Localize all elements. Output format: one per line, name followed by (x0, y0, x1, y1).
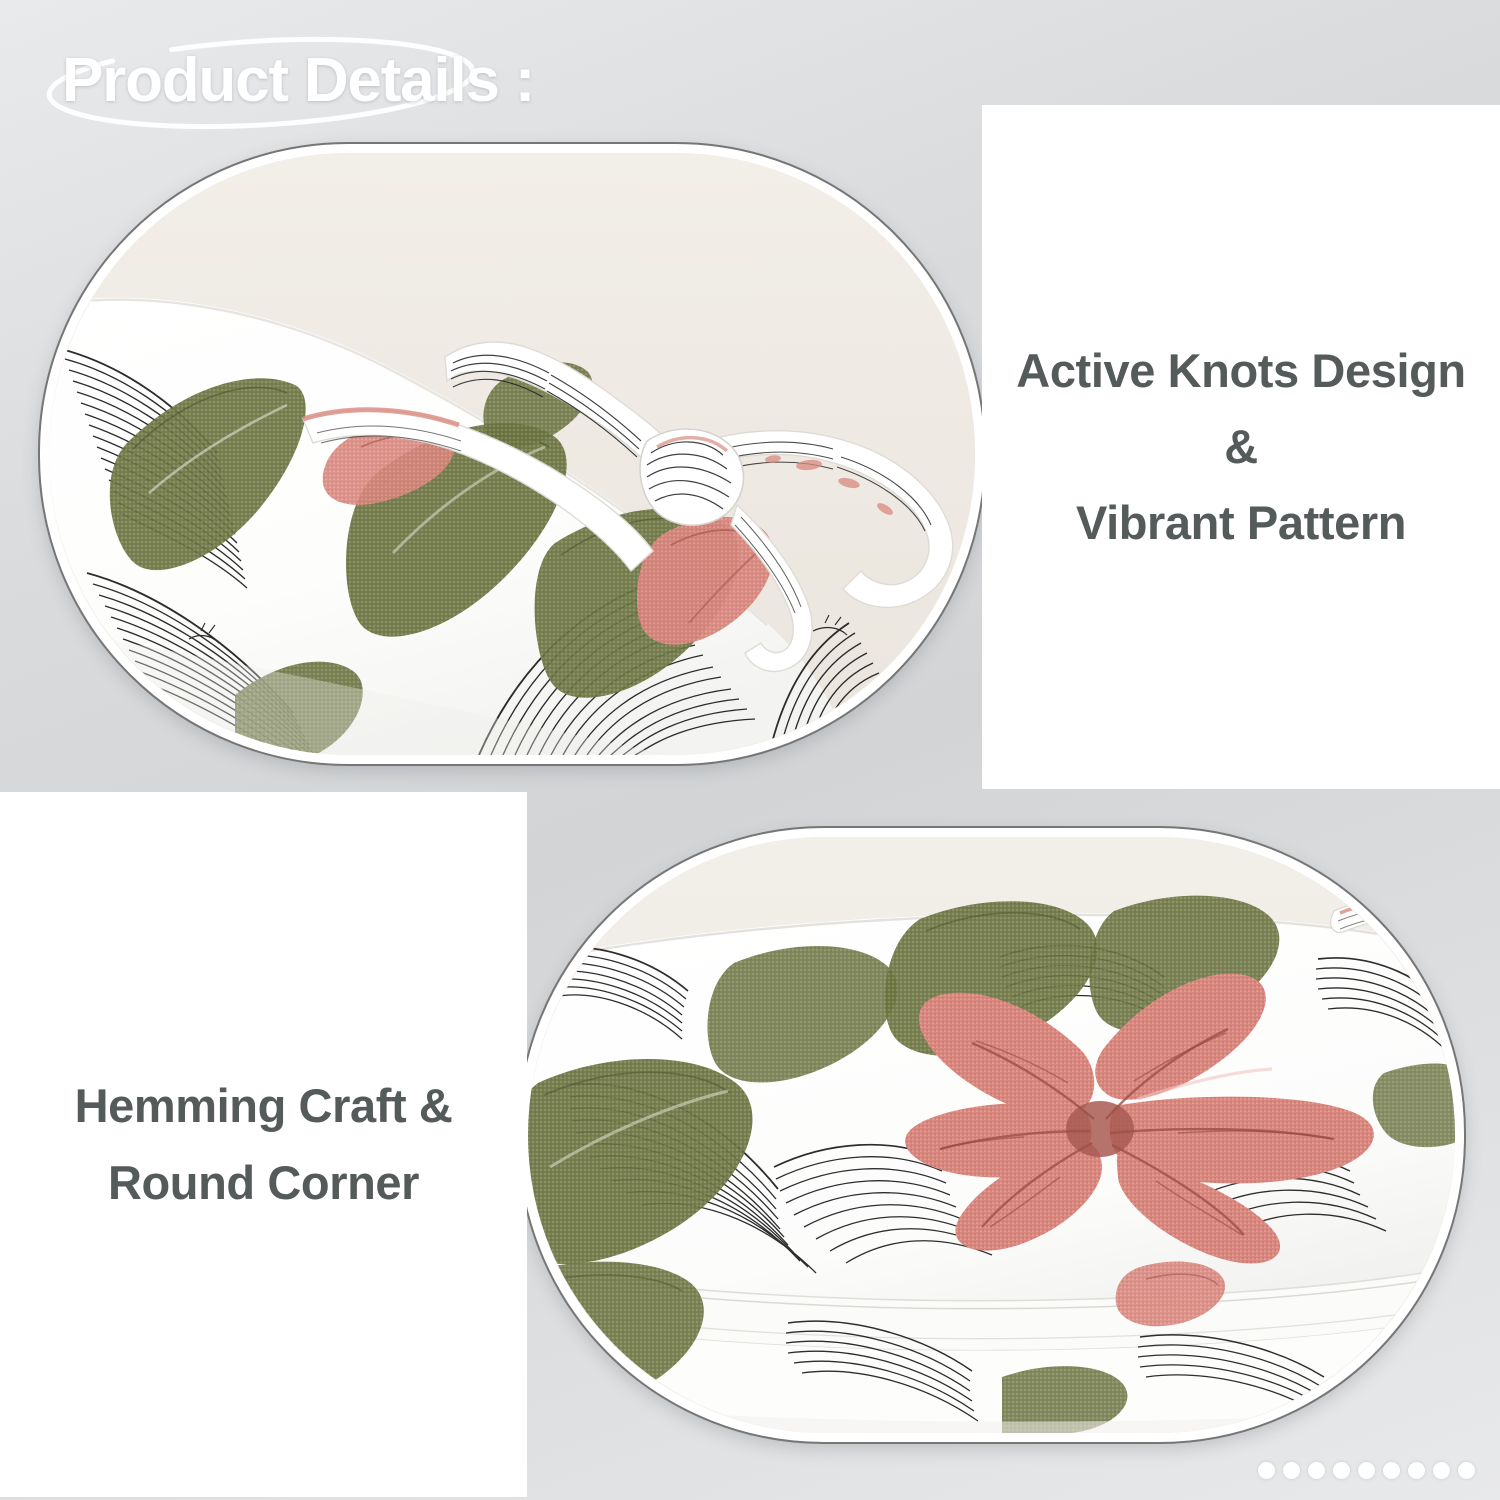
pagination-dot[interactable] (1458, 1462, 1475, 1479)
pagination-dot[interactable] (1258, 1462, 1275, 1479)
caption-text-active-knots: Active Knots Design & Vibrant Pattern (982, 333, 1500, 561)
pagination-dot[interactable] (1433, 1462, 1450, 1479)
pagination-dots[interactable] (1258, 1462, 1475, 1479)
page-title: Product Details : (62, 50, 534, 112)
caption-text-hemming-craft: Hemming Craft & Round Corner (49, 1068, 479, 1220)
fabric-artwork-knot (49, 153, 975, 755)
pagination-dot[interactable] (1383, 1462, 1400, 1479)
caption-panel-hemming-craft: Hemming Craft & Round Corner (0, 792, 527, 1497)
pagination-dot[interactable] (1333, 1462, 1350, 1479)
photo-image-area (49, 153, 975, 755)
product-details-infographic: Product Details : (0, 0, 1500, 1500)
product-photo-knot-detail[interactable] (38, 142, 986, 766)
photo-image-area (528, 837, 1455, 1433)
pagination-dot[interactable] (1308, 1462, 1325, 1479)
page-header: Product Details : (28, 26, 498, 138)
pagination-dot[interactable] (1358, 1462, 1375, 1479)
product-photo-hemming-detail[interactable] (517, 826, 1466, 1444)
fabric-artwork-hemming (528, 837, 1455, 1433)
caption-panel-active-knots: Active Knots Design & Vibrant Pattern (982, 105, 1500, 789)
pagination-dot[interactable] (1408, 1462, 1425, 1479)
caption-line-1: Hemming Craft & (75, 1068, 453, 1144)
caption-line-2: Vibrant Pattern (1008, 485, 1474, 561)
pagination-dot[interactable] (1283, 1462, 1300, 1479)
caption-line-1: Active Knots Design & (1008, 333, 1474, 485)
caption-line-2: Round Corner (75, 1145, 453, 1221)
